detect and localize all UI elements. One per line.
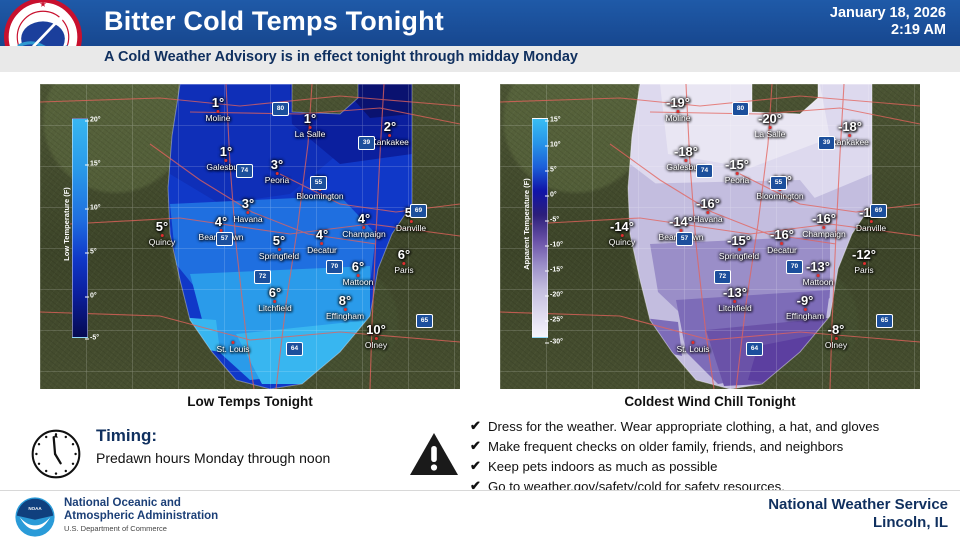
highway-shield-icon: 64 [286,342,303,356]
noaa-name-line1: National Oceanic and [64,497,218,510]
highway-shield-icon: 80 [732,102,749,116]
tick: 15° [550,117,561,124]
warning-triangle-icon [408,430,460,478]
map-wind-chill[interactable]: Apparent Temperature (F) 15° 10° 5° 0° -… [500,84,920,389]
tick: -15° [550,267,563,274]
colorbar-apparent-temp-title: Apparent Temperature (F) [522,144,531,304]
footer-bar: NOAA National Oceanic and Atmospheric Ad… [0,490,960,541]
highway-shield-icon: 65 [416,314,433,328]
highway-shield-icon: 70 [326,260,343,274]
highway-shield-icon: 70 [786,260,803,274]
tick: 20° [90,117,101,124]
advisory-text: A Cold Weather Advisory is in effect ton… [104,49,578,65]
tick: 0° [550,192,557,199]
list-item-label: Dress for the weather. Wear appropriate … [488,419,879,434]
header-date: January 18, 2026 [830,5,946,22]
highway-shield-icon: 69 [410,204,427,218]
svg-text:★: ★ [40,1,47,9]
tick: -5° [90,335,99,342]
advisory-bar: A Cold Weather Advisory is in effect ton… [0,46,960,73]
office-name: National Weather Service [768,496,948,514]
tick: 15° [90,161,101,168]
list-item: ✔ Make frequent checks on older family, … [470,436,950,456]
check-icon: ✔ [470,438,488,454]
clock-icon [28,426,84,482]
highway-shield-icon: 69 [870,204,887,218]
weather-graphic: ★ Bitter Cold Temps Tonight January 18, … [0,0,960,540]
check-icon: ✔ [470,418,488,434]
tick: 5° [90,249,97,256]
header-bar: ★ Bitter Cold Temps Tonight January 18, … [0,0,960,46]
tick: -5° [550,217,559,224]
colorbar-low-temp-title: Low Temperature (F) [62,144,71,304]
tick: -25° [550,317,563,324]
highway-shield-icon: 72 [254,270,271,284]
list-item-label: Keep pets indoors as much as possible [488,459,717,474]
list-item: ✔ Dress for the weather. Wear appropriat… [470,416,950,436]
timing-title: Timing: [96,426,157,446]
noaa-department: U.S. Department of Commerce [64,524,167,533]
tick: -10° [550,242,563,249]
office-credit: National Weather Service Lincoln, IL [768,496,948,532]
colorbar-apparent-temp [532,118,548,338]
colorbar-low-temp [72,118,88,338]
highway-shield-icon: 39 [818,136,835,150]
list-item: ✔ Keep pets indoors as much as possible [470,456,950,476]
noaa-name-line2: Atmospheric Administration [64,510,218,523]
header-time: 2:19 AM [830,22,946,39]
tick: -30° [550,339,563,346]
highway-shield-icon: 72 [714,270,731,284]
timing-text: Predawn hours Monday through noon [96,450,330,466]
map-low-temps[interactable]: Low Temperature (F) 20° 15° 10° 5° 0° -5… [40,84,460,389]
tick: -20° [550,292,563,299]
page-title: Bitter Cold Temps Tonight [104,6,444,37]
highway-shield-icon: 55 [310,176,327,190]
highway-shield-icon: 74 [236,164,253,178]
timing-section: Timing: Predawn hours Monday through noo… [28,424,398,484]
svg-text:NOAA: NOAA [28,506,42,511]
check-icon: ✔ [470,458,488,474]
tick: 10° [550,142,561,149]
highway-shield-icon: 55 [770,176,787,190]
noaa-name: National Oceanic and Atmospheric Adminis… [64,497,218,523]
highway-shield-icon: 39 [358,136,375,150]
list-item-label: Make frequent checks on older family, fr… [488,439,843,454]
safety-tips-list: ✔ Dress for the weather. Wear appropriat… [470,416,950,496]
highway-lines [40,84,460,389]
tick: 5° [550,167,557,174]
noaa-seal-icon: NOAA [14,496,56,538]
highway-shield-icon: 57 [676,232,693,246]
highway-shield-icon: 80 [272,102,289,116]
office-location: Lincoln, IL [768,514,948,532]
highway-shield-icon: 57 [216,232,233,246]
highway-shield-icon: 64 [746,342,763,356]
tick: 10° [90,205,101,212]
map-caption-chill: Coldest Wind Chill Tonight [500,394,920,409]
map-caption-low: Low Temps Tonight [40,394,460,409]
content-area: Low Temperature (F) 20° 15° 10° 5° 0° -5… [0,72,960,490]
tick: 0° [90,293,97,300]
header-datetime: January 18, 2026 2:19 AM [830,5,946,39]
highway-shield-icon: 74 [696,164,713,178]
highway-lines [500,84,920,389]
highway-shield-icon: 65 [876,314,893,328]
